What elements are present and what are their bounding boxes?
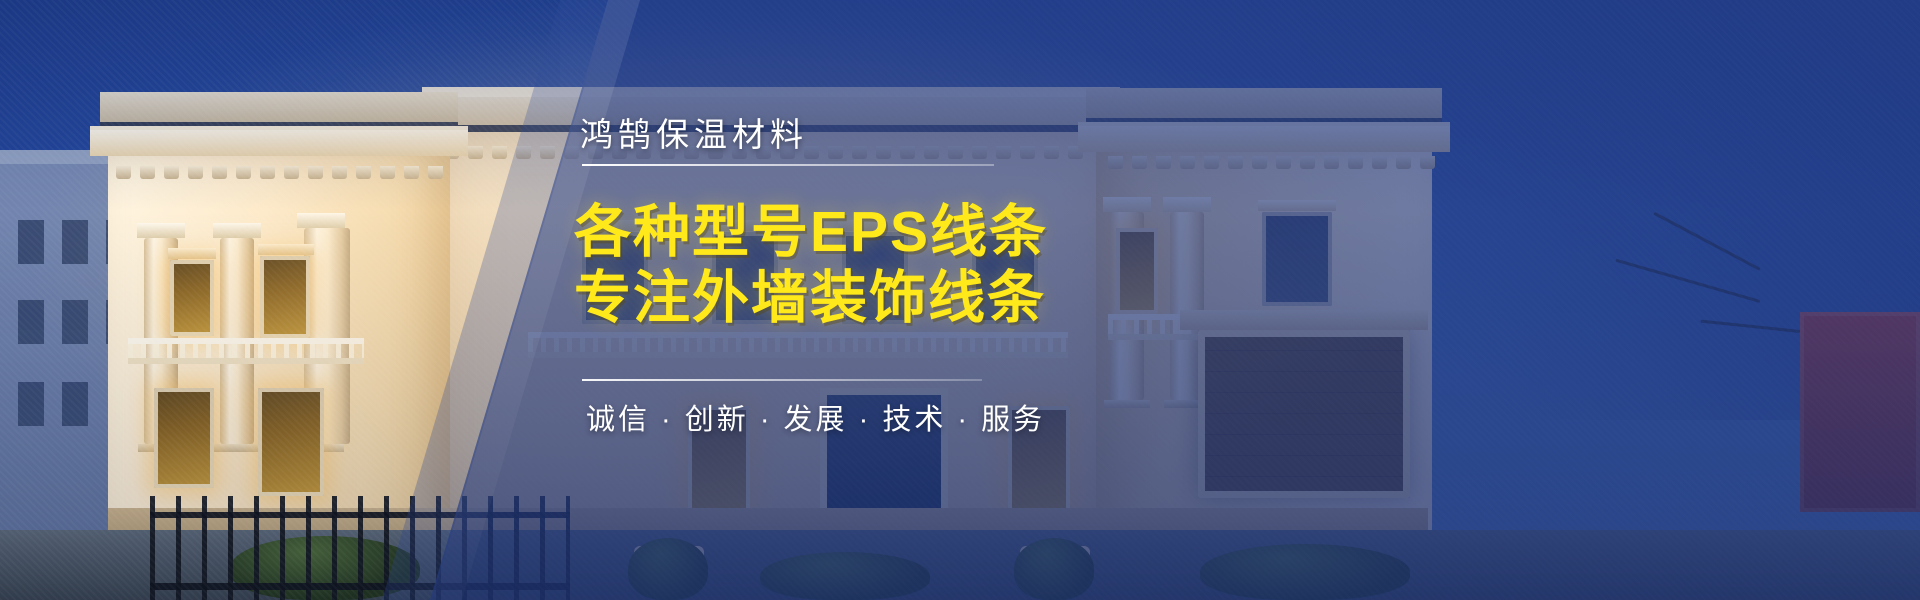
- divider-bottom: [582, 379, 982, 381]
- divider-top: [582, 164, 994, 166]
- hero-banner: 鸿鹄保温材料 各种型号EPS线条 专注外墙装饰线条 诚信 · 创新 · 发展 ·…: [0, 0, 1920, 600]
- brand-name: 鸿鹄保温材料: [580, 108, 808, 156]
- headline-line-2: 专注外墙装饰线条: [574, 252, 1046, 334]
- tagline: 诚信 · 创新 · 发展 · 技术 · 服务: [586, 396, 1045, 438]
- banner-copy: 鸿鹄保温材料 各种型号EPS线条 专注外墙装饰线条 诚信 · 创新 · 发展 ·…: [556, 0, 1316, 600]
